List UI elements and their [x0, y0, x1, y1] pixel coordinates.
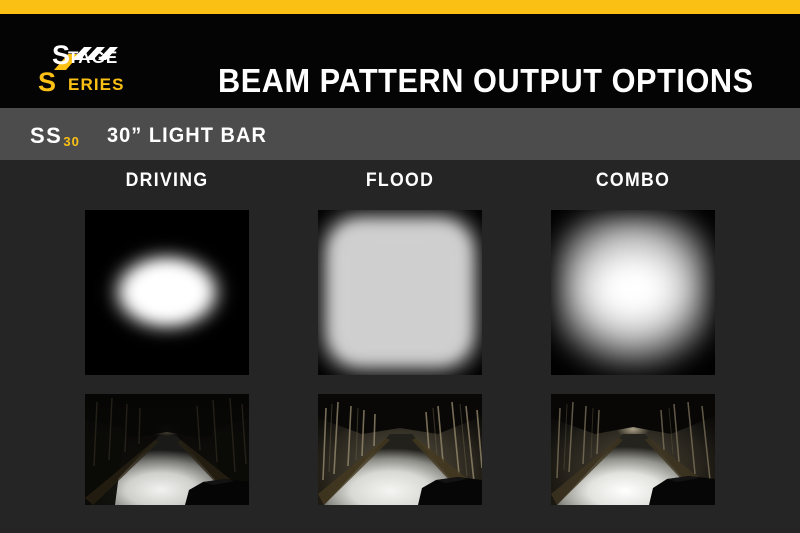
- page-title: BEAM PATTERN OUTPUT OPTIONS: [218, 64, 754, 98]
- flood-road-photo: [318, 394, 482, 505]
- combo-beam-pattern: [551, 210, 715, 375]
- sku-prefix: SS: [30, 123, 62, 148]
- flood-beam-pattern: [318, 210, 482, 375]
- sku-suffix: 30: [63, 134, 79, 149]
- top-accent-bar: [0, 0, 800, 14]
- column-title-combo: COMBO: [557, 171, 710, 191]
- stage-series-logo: TAGE S ERIES S: [28, 30, 196, 96]
- column-title-flood: FLOOD: [324, 171, 477, 191]
- driving-beam-pattern: [85, 210, 249, 375]
- svg-text:TAGE: TAGE: [68, 48, 118, 67]
- driving-road-photo: [85, 394, 249, 505]
- svg-text:ERIES: ERIES: [68, 75, 125, 94]
- beam-comparison-grid: DRIVING: [0, 160, 800, 533]
- svg-text:S: S: [38, 67, 56, 96]
- header-bar: TAGE S ERIES S BEAM PATTERN OUTPUT OPTIO…: [0, 14, 800, 108]
- combo-road-photo: [551, 394, 715, 505]
- subtitle-bar: SS30 30” LIGHT BAR: [0, 108, 800, 160]
- sku-badge: SS30: [30, 125, 79, 150]
- column-title-driving: DRIVING: [91, 171, 244, 191]
- product-label: 30” LIGHT BAR: [107, 124, 267, 147]
- svg-text:S: S: [52, 40, 70, 70]
